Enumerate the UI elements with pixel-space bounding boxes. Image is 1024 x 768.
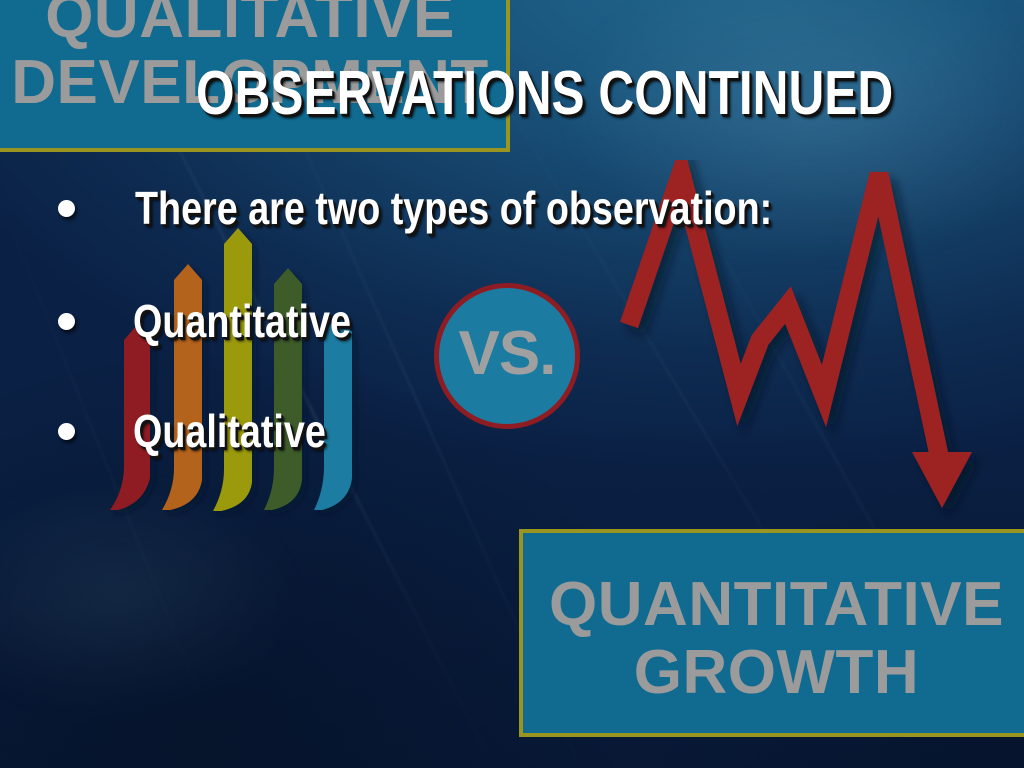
slide-canvas: QUALITATIVE DEVELOPMENT VS. — [0, 0, 1024, 768]
bullet-item-0: There are two types of observation: — [58, 185, 912, 231]
banner-bottom-line1: QUANTITATIVE — [549, 574, 1004, 636]
bullet-item-2: Qualitative — [58, 408, 368, 454]
banner-quantitative-growth: QUANTITATIVE GROWTH — [519, 529, 1024, 737]
bullet-dot-icon — [58, 200, 75, 217]
chart-bar-3 — [213, 228, 252, 511]
banner-bottom-line2: GROWTH — [634, 642, 919, 704]
bullet-label-0: There are two types of observation: — [135, 185, 772, 231]
page-title: OBSERVATIONS CONTINUED — [196, 58, 893, 129]
bullet-label-1: Quantitative — [133, 298, 351, 344]
growth-bar-chart-graphic — [104, 228, 376, 518]
bullet-label-2: Qualitative — [133, 408, 326, 454]
bullet-dot-icon — [58, 423, 75, 440]
bullet-dot-icon — [58, 313, 75, 330]
vs-badge-label: VS. — [459, 323, 556, 385]
arrowhead-down-icon — [912, 452, 972, 508]
bullet-item-1: Quantitative — [58, 298, 399, 344]
vs-badge: VS. — [434, 283, 580, 429]
banner-top-line1: QUALITATIVE — [45, 0, 455, 48]
